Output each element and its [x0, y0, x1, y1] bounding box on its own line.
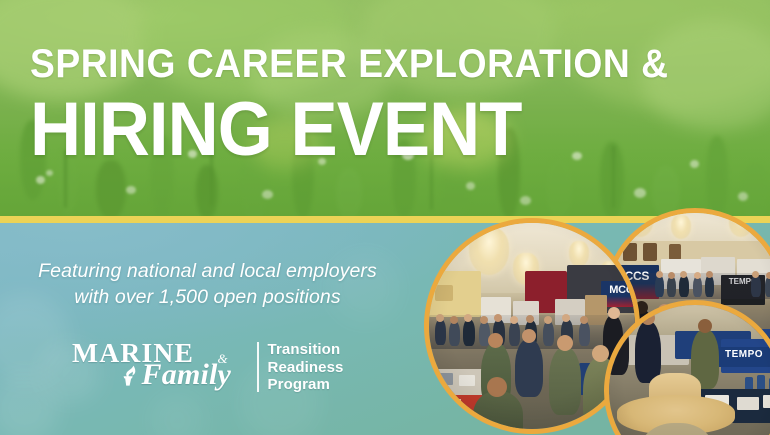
marine-and-family-wordmark: MARINE & Family — [72, 340, 248, 396]
headline-line-2: HIRING EVENT — [30, 92, 669, 168]
program-line-3: Program — [268, 376, 344, 394]
torch-flame-icon — [122, 365, 140, 386]
program-line-2: Readiness — [268, 359, 344, 377]
subtitle-line-2: with over 1,500 open positions — [0, 284, 415, 310]
spring-career-hiring-event-banner: SPRING CAREER EXPLORATION & HIRING EVENT… — [0, 0, 770, 435]
career-fair-photo-circle-right-lower: TEMPO — [604, 300, 770, 435]
headline-line-1: SPRING CAREER EXPLORATION & — [30, 44, 669, 84]
subtitle-line-1: Featuring national and local employers — [0, 258, 415, 284]
program-line-1: Transition — [268, 341, 344, 359]
transition-readiness-program-text: Transition Readiness Program — [268, 340, 344, 396]
marine-family-trp-logo: MARINE & Family Transition Readine — [0, 340, 415, 396]
subtitle-text: Featuring national and local employers w… — [0, 258, 415, 311]
family-wordmark-text: Family — [142, 360, 232, 390]
logo-divider — [257, 342, 259, 392]
headline-group: SPRING CAREER EXPLORATION & HIRING EVENT — [30, 44, 717, 168]
